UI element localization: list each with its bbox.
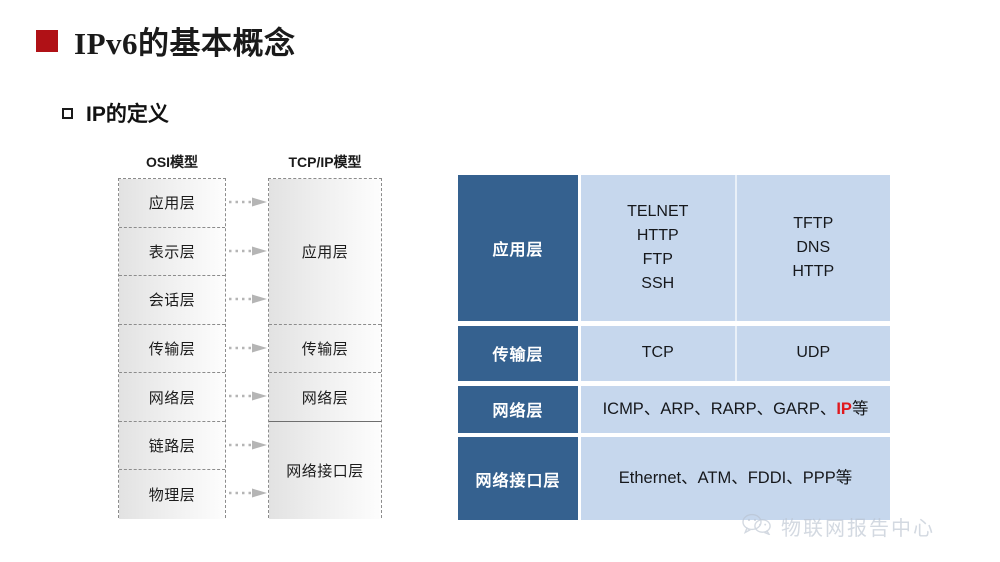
table-cell-transport-right: UDP bbox=[737, 326, 891, 381]
connector-arrow-icon bbox=[228, 390, 268, 402]
page-title: IPv6的基本概念 bbox=[36, 18, 296, 63]
table-cell-network-protocols: ICMP、ARP、RARP、GARP、IP等 bbox=[581, 386, 890, 433]
tcpip-layer-transport: 传输层 bbox=[269, 325, 381, 374]
section-subtitle: IP的定义 bbox=[62, 98, 169, 128]
osi-layer-presentation: 表示层 bbox=[119, 228, 225, 277]
watermark: 物联网报告中心 bbox=[742, 512, 935, 541]
wechat-icon bbox=[742, 513, 772, 540]
table-row-header-application: 应用层 bbox=[458, 175, 578, 321]
connector-arrow-icon bbox=[228, 487, 268, 499]
table-row-header-transport: 传输层 bbox=[458, 326, 578, 381]
table-row-header-netinterface: 网络接口层 bbox=[458, 437, 578, 520]
osi-layer-physical: 物理层 bbox=[119, 470, 225, 519]
osi-layer-session: 会话层 bbox=[119, 276, 225, 325]
protocol-table: 应用层 TELNETHTTPFTPSSH TFTPDNSHTTP 传输层 TCP… bbox=[458, 175, 890, 520]
watermark-text: 物联网报告中心 bbox=[781, 512, 935, 541]
osi-stack: 应用层 表示层 会话层 传输层 网络层 链路层 物理层 bbox=[118, 178, 226, 518]
osi-layer-datalink: 链路层 bbox=[119, 422, 225, 471]
table-cell-application-left: TELNETHTTPFTPSSH bbox=[581, 175, 735, 321]
tcpip-column-header: TCP/IP模型 bbox=[268, 152, 382, 172]
connector-arrow-icon bbox=[228, 245, 268, 257]
osi-column-header: OSI模型 bbox=[118, 152, 226, 172]
table-row: 传输层 TCP UDP bbox=[458, 326, 890, 381]
section-subtitle-text: IP的定义 bbox=[86, 98, 169, 128]
osi-layer-application: 应用层 bbox=[119, 179, 225, 228]
table-cell-netinterface-protocols: Ethernet、ATM、FDDI、PPP等 bbox=[581, 437, 890, 520]
tcpip-layer-netinterface: 网络接口层 bbox=[269, 422, 381, 519]
tcpip-layer-application: 应用层 bbox=[269, 179, 381, 325]
table-cell-transport-left: TCP bbox=[581, 326, 735, 381]
cell-text: UDP bbox=[796, 341, 830, 365]
table-cell-application-right: TFTPDNSHTTP bbox=[737, 175, 891, 321]
cell-text: TFTPDNSHTTP bbox=[792, 212, 834, 284]
cell-text: TCP bbox=[642, 341, 674, 365]
table-row: 应用层 TELNETHTTPFTPSSH TFTPDNSHTTP bbox=[458, 175, 890, 321]
connector-arrow-icon bbox=[228, 293, 268, 305]
connector-arrow-icon bbox=[228, 342, 268, 354]
osi-layer-transport: 传输层 bbox=[119, 325, 225, 374]
cell-text: ICMP、ARP、RARP、GARP、IP等 bbox=[603, 397, 869, 422]
tcpip-layer-network: 网络层 bbox=[269, 373, 381, 422]
subtitle-bullet-icon bbox=[62, 108, 73, 119]
table-row: 网络接口层 Ethernet、ATM、FDDI、PPP等 bbox=[458, 437, 890, 520]
tcpip-stack: 应用层 传输层 网络层 网络接口层 bbox=[268, 178, 382, 518]
osi-layer-network: 网络层 bbox=[119, 373, 225, 422]
title-bullet-icon bbox=[36, 30, 58, 52]
slide-root: IPv6的基本概念 IP的定义 OSI模型 TCP/IP模型 应用层 表示层 会… bbox=[0, 0, 1000, 562]
table-row: 网络层 ICMP、ARP、RARP、GARP、IP等 bbox=[458, 386, 890, 433]
connector-arrow-icon bbox=[228, 196, 268, 208]
connector-arrow-icon bbox=[228, 439, 268, 451]
page-title-text: IPv6的基本概念 bbox=[74, 18, 296, 63]
cell-text: TELNETHTTPFTPSSH bbox=[627, 200, 688, 296]
table-row-header-network: 网络层 bbox=[458, 386, 578, 433]
cell-text: Ethernet、ATM、FDDI、PPP等 bbox=[619, 466, 853, 491]
